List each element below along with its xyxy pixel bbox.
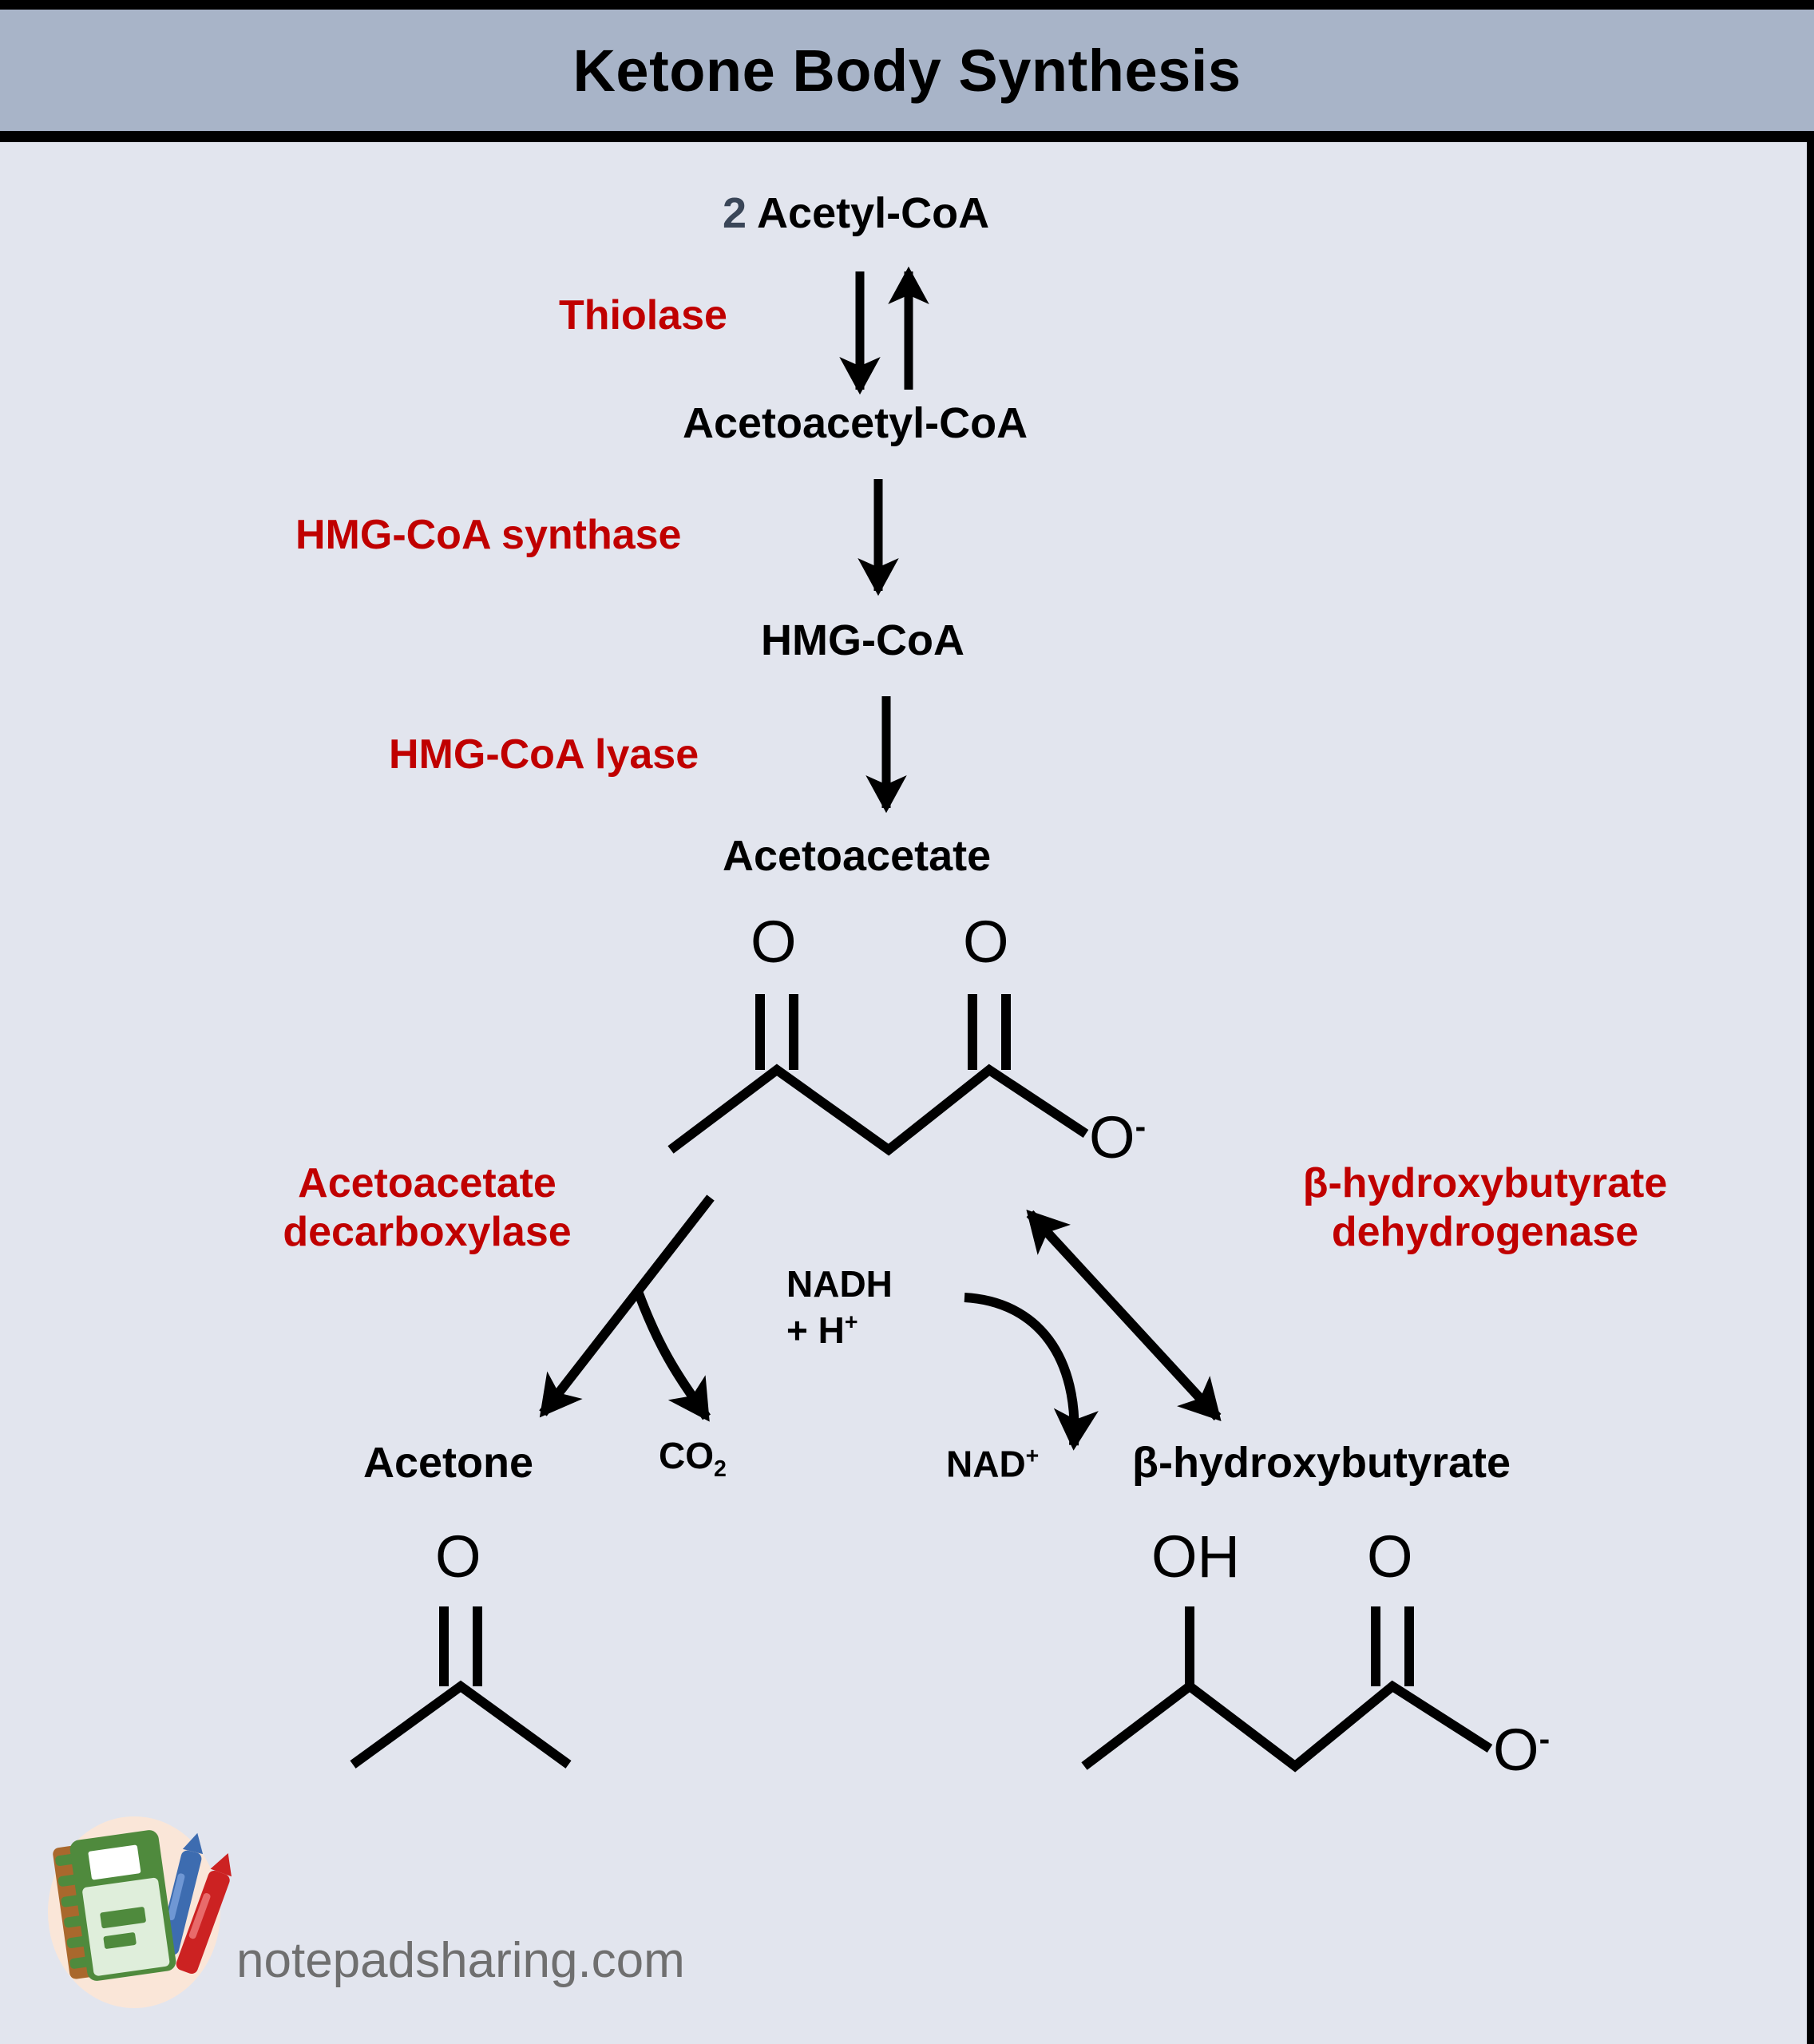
nad-plus-superscript: + [1026, 1444, 1040, 1469]
atom-label-acetoacetate-o2: O [963, 913, 1009, 972]
figure-right-border [1807, 142, 1814, 2044]
watermark: notepadsharing.com [45, 1812, 811, 2028]
metabolite-acetoacetate: Acetoacetate [723, 834, 991, 877]
arrow-release-co2 [639, 1293, 707, 1417]
cofactor-nadh: NADH + H+ [786, 1262, 893, 1353]
structure-acetone [353, 1606, 568, 1765]
molecule-co2: CO2 [659, 1437, 727, 1481]
notepad-logo-icon [45, 1812, 252, 2028]
cofactor-nadh-line2: + H+ [786, 1308, 893, 1354]
page-title: Ketone Body Synthesis [572, 37, 1241, 105]
watermark-site-label: notepadsharing.com [236, 1932, 685, 1989]
enzyme-hmg-coa-lyase-label: HMG-CoA lyase [389, 731, 699, 778]
metabolite-b-hydroxybutyrate: β-hydroxybutyrate [1132, 1441, 1511, 1484]
ketone-body-synthesis-diagram: Ketone Body Synthesis 2 Acetyl-CoA Aceto… [0, 0, 1814, 2044]
header-rule-top [0, 0, 1814, 10]
enzyme-bhb-dehydrogenase: β-hydroxybutyrate dehydrogenase [1254, 1159, 1717, 1258]
metabolite-acetoacetyl-coa-label: Acetoacetyl-CoA [683, 399, 1028, 447]
arrow-acetoacetate-bhb-reversible [1030, 1214, 1218, 1417]
enzyme-bhb-dehydrogenase-line1: β-hydroxybutyrate [1254, 1159, 1717, 1208]
enzyme-acetoacetate-decarboxylase: Acetoacetate decarboxylase [240, 1159, 615, 1258]
metabolite-acetoacetyl-coa: Acetoacetyl-CoA [683, 402, 1028, 445]
metabolite-acetyl-coa: 2 Acetyl-CoA [723, 192, 989, 235]
stoichiometry-2: 2 [723, 189, 747, 237]
atom-label-acetoacetate-o-minus: O- [1089, 1108, 1146, 1167]
metabolite-acetoacetate-label: Acetoacetate [723, 832, 991, 880]
enzyme-hmg-coa-synthase-label: HMG-CoA synthase [295, 512, 681, 558]
metabolite-b-hydroxybutyrate-label: β-hydroxybutyrate [1132, 1439, 1511, 1487]
header-rule-bottom [0, 131, 1814, 142]
enzyme-bhb-dehydrogenase-line2: dehydrogenase [1254, 1208, 1717, 1257]
cofactor-nad-plus: NAD+ [946, 1445, 1039, 1482]
cofactor-nadh-line1: NADH [786, 1262, 893, 1308]
metabolite-acetyl-coa-label: Acetyl-CoA [757, 189, 989, 237]
enzyme-thiolase: Thiolase [559, 291, 727, 340]
atom-label-acetoacetate-o1: O [751, 913, 797, 972]
enzyme-hmg-coa-lyase: HMG-CoA lyase [389, 731, 699, 779]
structure-b-hydroxybutyrate [1084, 1606, 1490, 1766]
atom-label-bhb-oh: OH [1151, 1527, 1240, 1586]
enzyme-thiolase-label: Thiolase [559, 292, 727, 339]
bhb-minus-superscript: - [1539, 1720, 1551, 1757]
bond-acetone-backbone [353, 1686, 568, 1765]
metabolite-acetone-label: Acetone [363, 1439, 533, 1487]
atom-label-bhb-o: O [1367, 1527, 1413, 1586]
enzyme-acetoacetate-decarboxylase-line1: Acetoacetate [240, 1159, 615, 1208]
bond-bhb-backbone [1084, 1686, 1490, 1766]
nadh-plus-superscript: + [845, 1309, 858, 1335]
enzyme-acetoacetate-decarboxylase-line2: decarboxylase [240, 1208, 615, 1257]
structure-acetoacetate [671, 994, 1086, 1150]
metabolite-hmg-coa: HMG-CoA [761, 619, 964, 662]
co2-subscript: 2 [714, 1456, 727, 1482]
enzyme-hmg-coa-synthase: HMG-CoA synthase [295, 511, 681, 560]
bond-acetoacetate-backbone [671, 1070, 1086, 1150]
atom-label-acetone-o: O [435, 1527, 481, 1586]
metabolite-hmg-coa-label: HMG-CoA [761, 616, 964, 664]
acetoacetate-minus-superscript: - [1135, 1107, 1147, 1144]
arrow-nadh-to-nad [964, 1297, 1075, 1445]
atom-label-bhb-o-minus: O- [1493, 1721, 1550, 1780]
metabolite-acetone: Acetone [363, 1441, 533, 1484]
title-band: Ketone Body Synthesis [0, 10, 1814, 131]
